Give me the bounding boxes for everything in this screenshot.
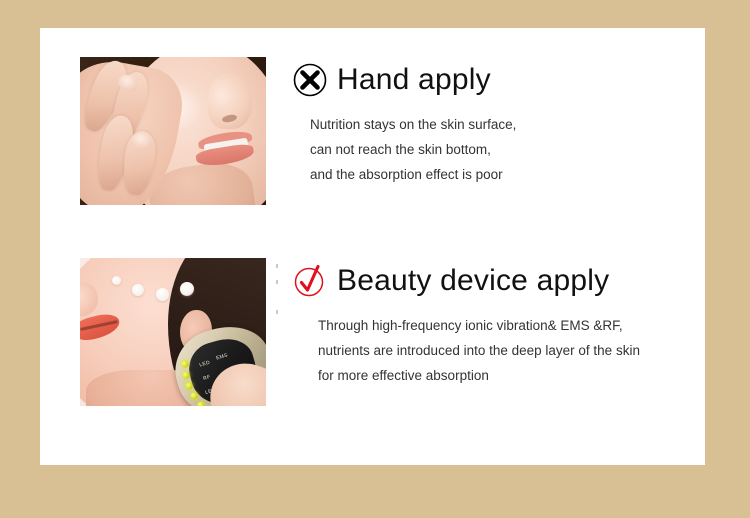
scan-artifact — [276, 310, 278, 314]
heading-row: Beauty device apply — [292, 258, 722, 304]
scan-artifact — [276, 280, 278, 284]
section-heading: Hand apply — [337, 63, 491, 97]
cream-dot — [180, 282, 194, 296]
image-beauty-device-apply: LED EMS RF LEV — [80, 258, 266, 406]
content-panel: Hand apply Nutrition stays on the skin s… — [40, 28, 705, 465]
cream-dot — [156, 288, 169, 301]
body-line: Nutrition stays on the skin surface, — [310, 112, 722, 137]
text-block-beauty-device-apply: Beauty device apply Through high-frequen… — [292, 258, 722, 388]
poster-background: Hand apply Nutrition stays on the skin s… — [0, 0, 750, 518]
cross-circle-icon — [292, 62, 328, 98]
body-line: Through high-frequency ionic vibration& … — [318, 313, 722, 338]
body-line: nutrients are introduced into the deep l… — [318, 338, 722, 363]
body-line: can not reach the skin bottom, — [310, 137, 722, 162]
check-circle-icon — [292, 263, 328, 299]
body-paragraph: Nutrition stays on the skin surface, can… — [310, 112, 722, 187]
scan-artifact — [276, 264, 278, 268]
cream-dot — [112, 276, 121, 285]
text-block-hand-apply: Hand apply Nutrition stays on the skin s… — [292, 57, 722, 187]
body-line: for more effective absorption — [318, 363, 722, 388]
body-paragraph: Through high-frequency ionic vibration& … — [318, 313, 722, 388]
heading-row: Hand apply — [292, 57, 722, 103]
cream-dot — [132, 284, 144, 296]
image-hand-apply — [80, 57, 266, 205]
body-line: and the absorption effect is poor — [310, 162, 722, 187]
section-heading: Beauty device apply — [337, 264, 609, 298]
